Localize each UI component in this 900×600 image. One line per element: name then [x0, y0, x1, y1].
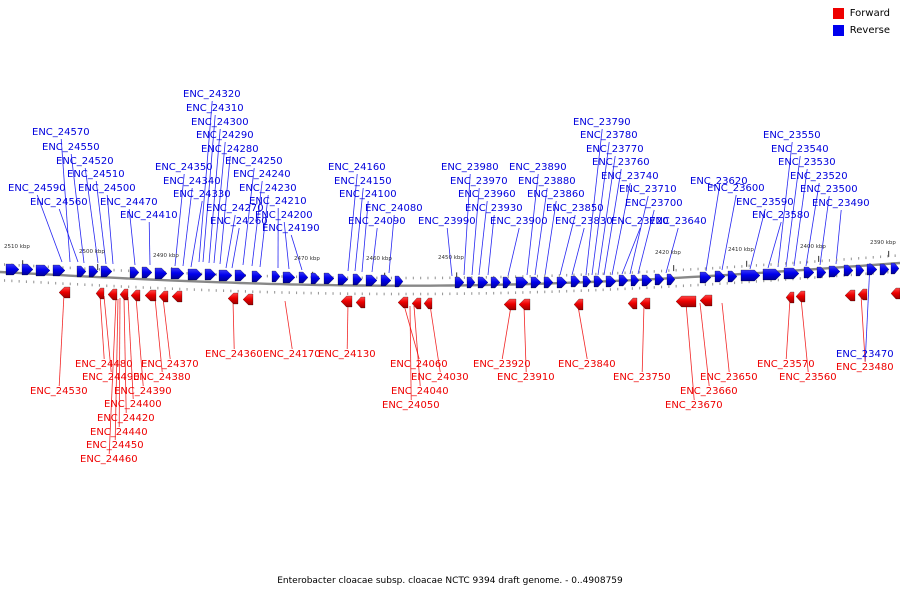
gene-label[interactable]: ENC_24500 — [78, 184, 136, 194]
gene-label[interactable]: ENC_23990 — [418, 217, 476, 227]
figure-caption: Enterobacter cloacae subsp. cloacae NCTC… — [0, 576, 900, 586]
gene-label[interactable]: ENC_23770 — [586, 145, 644, 155]
gene-label[interactable]: ENC_23490 — [812, 199, 870, 209]
gene-label[interactable]: ENC_24150 — [334, 177, 392, 187]
gene-label[interactable]: ENC_24530 — [30, 387, 88, 397]
reverse-gene-arrows — [6, 263, 899, 288]
gene-label[interactable]: ENC_24300 — [191, 118, 249, 128]
gene-label[interactable]: ENC_23520 — [790, 172, 848, 182]
gene-label[interactable]: ENC_24560 — [30, 198, 88, 208]
gene-label[interactable]: ENC_24470 — [100, 198, 158, 208]
gene-label[interactable]: ENC_23920 — [473, 360, 531, 370]
gene-label[interactable]: ENC_23660 — [680, 387, 738, 397]
gene-label[interactable]: ENC_24360 — [205, 350, 263, 360]
gene-label[interactable]: ENC_24340 — [163, 177, 221, 187]
gene-label[interactable]: ENC_24390 — [114, 387, 172, 397]
axis-tick-label: 2400 kbp — [800, 244, 826, 250]
gene-label[interactable]: ENC_24400 — [104, 400, 162, 410]
gene-label[interactable]: ENC_24080 — [365, 204, 423, 214]
gene-label[interactable]: ENC_23600 — [707, 184, 765, 194]
gene-label[interactable]: ENC_24450 — [86, 441, 144, 451]
gene-label[interactable]: ENC_24200 — [255, 211, 313, 221]
gene-label[interactable]: ENC_24050 — [382, 401, 440, 411]
gene-label[interactable]: ENC_24250 — [225, 157, 283, 167]
gene-label[interactable]: ENC_23970 — [450, 177, 508, 187]
gene-label[interactable]: ENC_23790 — [573, 118, 631, 128]
gene-label[interactable]: ENC_23570 — [757, 360, 815, 370]
gene-label[interactable]: ENC_24410 — [120, 211, 178, 221]
gene-label[interactable]: ENC_23710 — [619, 185, 677, 195]
gene-label[interactable]: ENC_24350 — [155, 163, 213, 173]
gene-label[interactable]: ENC_23580 — [752, 211, 810, 221]
gene-label[interactable]: ENC_24570 — [32, 128, 90, 138]
gene-label[interactable]: ENC_24460 — [80, 455, 138, 465]
gene-label[interactable]: ENC_23910 — [497, 373, 555, 383]
gene-label[interactable]: ENC_24320 — [183, 90, 241, 100]
gene-label[interactable]: ENC_24380 — [133, 373, 191, 383]
gene-label[interactable]: ENC_23860 — [527, 190, 585, 200]
gene-label[interactable]: ENC_23540 — [771, 145, 829, 155]
gene-label[interactable]: ENC_23590 — [736, 198, 794, 208]
gene-label[interactable]: ENC_23750 — [613, 373, 671, 383]
gene-label[interactable]: ENC_23830 — [555, 217, 613, 227]
genome-map-canvas: Forward Reverse ENC_24590ENC_24 — [0, 0, 900, 600]
gene-label[interactable]: ENC_23840 — [558, 360, 616, 370]
axis-tick-label: 2420 kbp — [655, 250, 681, 256]
gene-label[interactable]: ENC_24440 — [90, 428, 148, 438]
gene-label[interactable]: ENC_24510 — [67, 170, 125, 180]
axis-tick-label: 2410 kbp — [728, 247, 754, 253]
gene-label[interactable]: ENC_23700 — [625, 199, 683, 209]
gene-label[interactable]: ENC_23670 — [665, 401, 723, 411]
gene-label[interactable]: ENC_23560 — [779, 373, 837, 383]
gene-label[interactable]: ENC_24190 — [262, 224, 320, 234]
gene-label[interactable]: ENC_23530 — [778, 158, 836, 168]
gene-label[interactable]: ENC_23960 — [458, 190, 516, 200]
axis-tick-label: 2450 kbp — [438, 255, 464, 261]
gene-label[interactable]: ENC_23480 — [836, 363, 894, 373]
gene-label[interactable]: ENC_23760 — [592, 158, 650, 168]
gene-label[interactable]: ENC_24060 — [390, 360, 448, 370]
gene-label[interactable]: ENC_24550 — [42, 143, 100, 153]
gene-label[interactable]: ENC_24030 — [411, 373, 469, 383]
gene-label[interactable]: ENC_23640 — [649, 217, 707, 227]
gene-label[interactable]: ENC_23740 — [601, 172, 659, 182]
gene-label[interactable]: ENC_24210 — [249, 197, 307, 207]
gene-label[interactable]: ENC_24520 — [56, 157, 114, 167]
gene-label[interactable]: ENC_23900 — [490, 217, 548, 227]
gene-label[interactable]: ENC_24590 — [8, 184, 66, 194]
gene-label[interactable]: ENC_24280 — [201, 145, 259, 155]
gene-label[interactable]: ENC_23850 — [546, 204, 604, 214]
gene-label[interactable]: ENC_24370 — [141, 360, 199, 370]
gene-label[interactable]: ENC_24130 — [318, 350, 376, 360]
gene-label[interactable]: ENC_24310 — [186, 104, 244, 114]
gene-label[interactable]: ENC_23880 — [518, 177, 576, 187]
gene-label[interactable]: ENC_24170 — [263, 350, 321, 360]
gene-label[interactable]: ENC_23500 — [800, 185, 858, 195]
gene-label[interactable]: ENC_24240 — [233, 170, 291, 180]
gene-label[interactable]: ENC_23780 — [580, 131, 638, 141]
gene-label[interactable]: ENC_23650 — [700, 373, 758, 383]
gene-label[interactable]: ENC_24290 — [196, 131, 254, 141]
axis-tick-label: 2490 kbp — [153, 253, 179, 259]
axis-tick-label: 2460 kbp — [366, 256, 392, 262]
gene-label[interactable]: ENC_24040 — [391, 387, 449, 397]
gene-label[interactable]: ENC_24090 — [348, 217, 406, 227]
reverse-leader-lines — [37, 101, 870, 361]
gene-label[interactable]: ENC_23930 — [465, 204, 523, 214]
genome-track-graphics — [0, 0, 900, 600]
forward-gene-arrows — [59, 287, 900, 310]
gene-label[interactable]: ENC_23550 — [763, 131, 821, 141]
gene-label[interactable]: ENC_24100 — [339, 190, 397, 200]
gene-label[interactable]: ENC_24330 — [173, 190, 231, 200]
axis-tick-label: 2500 kbp — [79, 249, 105, 255]
gene-label[interactable]: ENC_24230 — [239, 184, 297, 194]
gene-label[interactable]: ENC_24420 — [97, 414, 155, 424]
gene-label[interactable]: ENC_24160 — [328, 163, 386, 173]
gene-label[interactable]: ENC_24480 — [75, 360, 133, 370]
gene-label[interactable]: ENC_23980 — [441, 163, 499, 173]
axis-tick-label: 2470 kbp — [294, 256, 320, 262]
gene-label[interactable]: ENC_23470 — [836, 350, 894, 360]
gene-label[interactable]: ENC_24490 — [82, 373, 140, 383]
axis-tick-label: 2390 kbp — [870, 240, 896, 246]
gene-label[interactable]: ENC_23890 — [509, 163, 567, 173]
axis-tick-label: 2510 kbp — [4, 244, 30, 250]
